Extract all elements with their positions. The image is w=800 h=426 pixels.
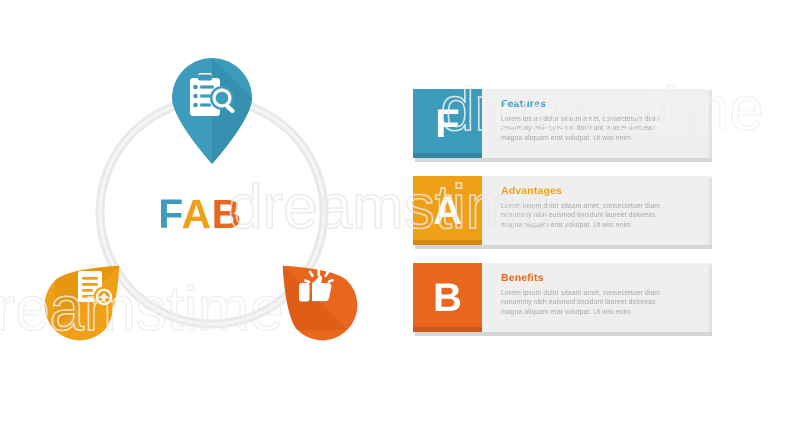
row-edge-shadow [709, 178, 712, 249]
fab-letter-b: B [212, 191, 242, 237]
fab-circle-diagram: FAB [0, 0, 400, 426]
row-edge-shadow [709, 265, 712, 336]
row-body-benefits: Lorem ipsum dolor sitaam amet, consectet… [501, 289, 706, 317]
fab-letter-f: F [158, 191, 181, 237]
row-body-features: Lorem ipsum dolor sitaani amet, consecte… [501, 115, 706, 143]
marker-features[interactable] [172, 58, 252, 164]
tile-shade [413, 240, 482, 245]
row-bottom-shadow [415, 158, 712, 162]
row-body-line: Lorem ipsum dolor sitaani amet, consecte… [501, 115, 706, 124]
row-text-advantages: Advantages Lorem ipsum dolor sitaam amet… [501, 185, 706, 230]
letter-tile-b-label: B [433, 278, 462, 318]
row-heading-features: Features [501, 98, 706, 111]
list-item[interactable]: F Features Lorem ipsum dolor sitaani ame… [413, 89, 712, 158]
row-body-line: Lorem ipsum dolor sitaam amet, consectet… [501, 202, 706, 211]
row-body-line: magna aliquam erat volutpat. Ut wisi eni… [501, 308, 706, 317]
row-body-line: magna aliquam erat volutpat. Ut wisi eni… [501, 134, 706, 143]
row-body-line: nonummy nibh euismod tincidunt laoreet d… [501, 298, 706, 307]
fab-rows-list: F Features Lorem ipsum dolor sitaani ame… [413, 0, 800, 426]
fab-letter-a: A [182, 191, 212, 237]
letter-tile-a: A [413, 176, 482, 245]
tile-shade [413, 327, 482, 332]
list-item[interactable]: A Advantages Lorem ipsum dolor sitaam am… [413, 176, 712, 245]
row-heading-benefits: Benefits [501, 272, 706, 285]
row-body-line: nonummy nibh euismod tincidunt laoreet d… [501, 124, 706, 133]
row-body-line: nonummy nibh euismod tincidunt laoreet d… [501, 211, 706, 220]
row-text-benefits: Benefits Lorem ipsum dolor sitaam amet, … [501, 272, 706, 317]
row-heading-advantages: Advantages [501, 185, 706, 198]
letter-tile-f: F [413, 89, 482, 158]
row-text-features: Features Lorem ipsum dolor sitaani amet,… [501, 98, 706, 143]
tile-shade [413, 153, 482, 158]
row-body-line: magna aliquam erat volutpat. Ut wisi eni… [501, 221, 706, 230]
list-item[interactable]: B Benefits Lorem ipsum dolor sitaam amet… [413, 263, 712, 332]
letter-tile-b: B [413, 263, 482, 332]
row-body-line: Lorem ipsum dolor sitaam amet, consectet… [501, 289, 706, 298]
row-edge-shadow [709, 91, 712, 162]
row-bottom-shadow [415, 245, 712, 249]
fab-center-label: FAB [0, 194, 400, 235]
letter-tile-a-label: A [433, 191, 462, 231]
letter-tile-f-label: F [435, 104, 459, 144]
row-body-advantages: Lorem ipsum dolor sitaam amet, consectet… [501, 202, 706, 230]
row-bottom-shadow [415, 332, 712, 336]
infographic-canvas: FAB F Features Lorem ipsum dolor sitaani… [0, 0, 800, 426]
